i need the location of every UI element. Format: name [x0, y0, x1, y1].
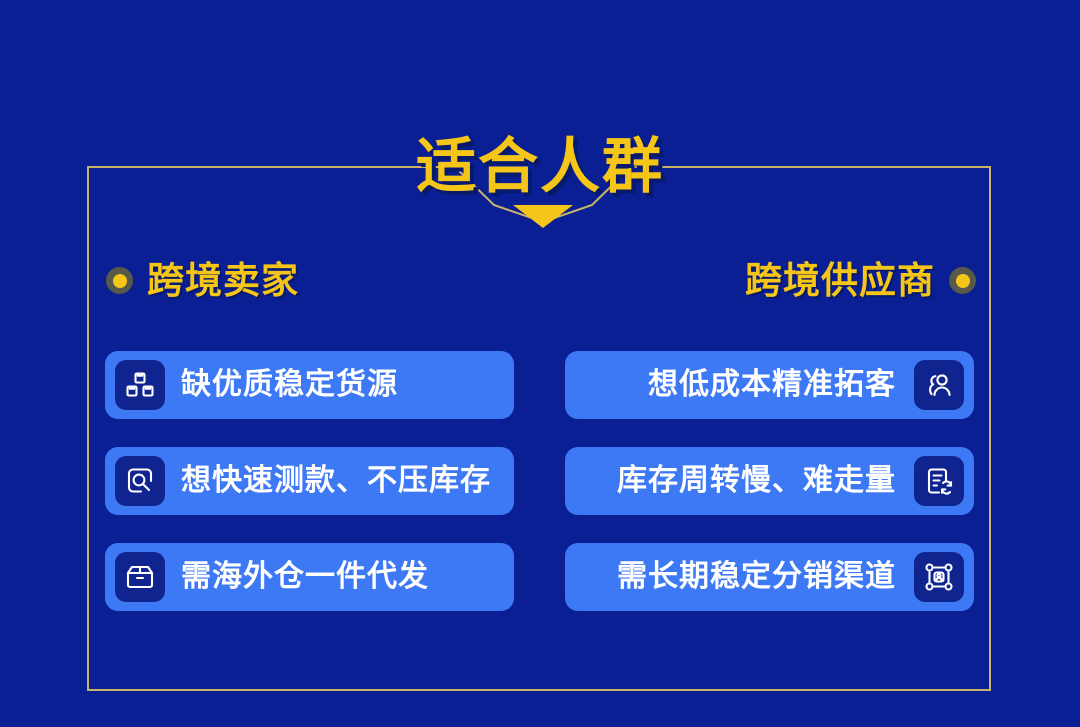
list-item-label: 需长期稳定分销渠道	[617, 562, 896, 592]
slide-canvas: 适合人群 跨境卖家 跨境供应商 缺优质稳定货源	[0, 0, 1080, 727]
column-heading-label: 跨境卖家	[147, 262, 299, 299]
boxes-stack-icon	[115, 360, 165, 410]
two-users-icon	[914, 360, 964, 410]
list-item-label: 缺优质稳定货源	[181, 370, 398, 400]
network-distribution-icon	[914, 552, 964, 602]
list-item[interactable]: 想快速测款、不压库存	[105, 447, 514, 515]
column-heading-label: 跨境供应商	[745, 262, 935, 299]
bullet-marker-icon	[106, 267, 133, 294]
list-item[interactable]: 想低成本精准拓客	[565, 351, 974, 419]
seller-card-list: 缺优质稳定货源 想快速测款、不压库存 需海外仓一件	[105, 351, 514, 611]
package-box-icon	[115, 552, 165, 602]
bullet-marker-icon	[949, 267, 976, 294]
list-item-label: 想低成本精准拓客	[648, 370, 896, 400]
list-item[interactable]: 需长期稳定分销渠道	[565, 543, 974, 611]
list-item-label: 库存周转慢、难走量	[617, 466, 896, 496]
list-item-label: 想快速测款、不压库存	[181, 466, 491, 496]
search-square-icon	[115, 456, 165, 506]
list-item-label: 需海外仓一件代发	[181, 562, 429, 592]
frame-notch-triangle	[513, 205, 573, 228]
column-heading-seller: 跨境卖家	[106, 262, 299, 299]
list-item[interactable]: 需海外仓一件代发	[105, 543, 514, 611]
supplier-card-list: 想低成本精准拓客 库存周转慢、难走量	[565, 351, 974, 611]
page-title: 适合人群	[0, 118, 1080, 205]
list-item[interactable]: 缺优质稳定货源	[105, 351, 514, 419]
list-item[interactable]: 库存周转慢、难走量	[565, 447, 974, 515]
column-heading-supplier: 跨境供应商	[745, 262, 976, 299]
document-refresh-icon	[914, 456, 964, 506]
